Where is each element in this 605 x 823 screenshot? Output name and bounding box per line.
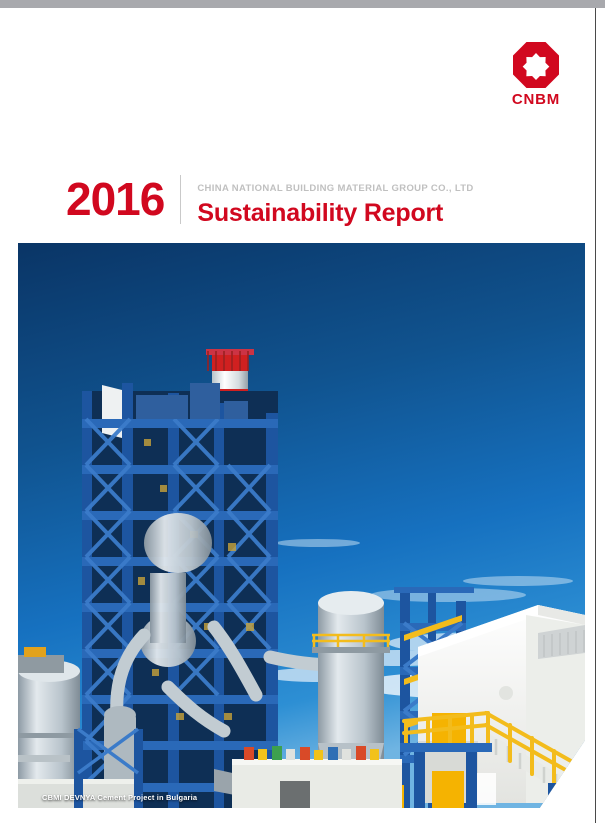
report-cover-page: CNBM 2016 CHINA NATIONAL BUILDING MATERI…: [0, 8, 596, 823]
report-year: 2016: [66, 173, 180, 227]
viewer-topbar: [0, 0, 605, 8]
page-title: Sustainability Report: [197, 199, 473, 227]
title-text-group: CHINA NATIONAL BUILDING MATERIAL GROUP C…: [181, 173, 473, 227]
cement-plant-illustration: [18, 243, 585, 808]
company-name: CHINA NATIONAL BUILDING MATERIAL GROUP C…: [197, 183, 473, 194]
left-silo: [18, 647, 80, 791]
cover-photo: CBMI DEVNYA Cement Project in Bulgaria: [18, 243, 585, 808]
photo-caption: CBMI DEVNYA Cement Project in Bulgaria: [42, 793, 197, 802]
cnbm-wordmark: CNBM: [505, 92, 567, 107]
document-viewer: CNBM 2016 CHINA NATIONAL BUILDING MATERI…: [0, 0, 605, 823]
cnbm-octagon-star-logo: [513, 42, 559, 88]
cnbm-logo: CNBM: [505, 42, 567, 107]
cover-title-block: 2016 CHINA NATIONAL BUILDING MATERIAL GR…: [66, 173, 474, 227]
